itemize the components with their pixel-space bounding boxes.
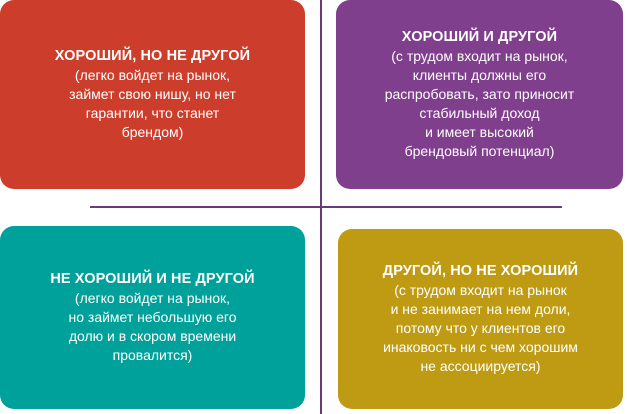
quadrant-body-line: брендом) — [69, 123, 236, 142]
quadrant-title-bottom-left: НЕ ХОРОШИЙ И НЕ ДРУГОЙ — [50, 270, 254, 289]
quadrant-body-bottom-right: (с трудом входит на рынок и не занимает … — [383, 281, 578, 376]
quadrant-body-line: займет свою нишу, но нет — [69, 85, 236, 104]
quadrant-body-line: не ассоциируется) — [383, 357, 578, 376]
quadrant-body-line: распробовать, зато приносит — [385, 85, 575, 104]
quadrant-matrix: ХОРОШИЙ, НО НЕ ДРУГОЙ (легко войдет на р… — [0, 0, 627, 414]
quadrant-body-line: но займет небольшую его — [69, 308, 237, 327]
quadrant-body-line: (с трудом входит на рынок, — [385, 47, 575, 66]
quadrant-body-line: и не занимает на нем доли, — [383, 300, 578, 319]
quadrant-body-line: (с трудом входит на рынок — [383, 281, 578, 300]
quadrant-body-line: клиенты должны его — [385, 66, 575, 85]
quadrant-title-bottom-right: ДРУГОЙ, НО НЕ ХОРОШИЙ — [383, 262, 578, 281]
quadrant-body-line: долю и в скором времени — [69, 327, 237, 346]
quadrant-card-top-left[interactable]: ХОРОШИЙ, НО НЕ ДРУГОЙ (легко войдет на р… — [0, 0, 305, 189]
horizontal-divider-line — [90, 206, 562, 208]
quadrant-card-bottom-left[interactable]: НЕ ХОРОШИЙ И НЕ ДРУГОЙ (легко войдет на … — [0, 226, 305, 409]
quadrant-card-bottom-right[interactable]: ДРУГОЙ, НО НЕ ХОРОШИЙ (с трудом входит н… — [338, 229, 623, 409]
quadrant-body-line: (легко войдет на рынок, — [69, 66, 236, 85]
quadrant-body-line: и имеет высокий — [385, 123, 575, 142]
quadrant-body-line: потому что у клиентов его — [383, 319, 578, 338]
quadrant-title-top-right: ХОРОШИЙ И ДРУГОЙ — [402, 28, 557, 47]
quadrant-card-top-right[interactable]: ХОРОШИЙ И ДРУГОЙ (с трудом входит на рын… — [336, 0, 623, 189]
quadrant-body-top-left: (легко войдет на рынок, займет свою нишу… — [69, 66, 236, 142]
quadrant-title-top-left: ХОРОШИЙ, НО НЕ ДРУГОЙ — [55, 47, 250, 66]
quadrant-body-bottom-left: (легко войдет на рынок, но займет неболь… — [69, 289, 237, 365]
quadrant-body-line: инаковость ни с чем хорошим — [383, 338, 578, 357]
quadrant-body-line: гарантии, что станет — [69, 104, 236, 123]
quadrant-body-line: провалится) — [69, 346, 237, 365]
quadrant-body-line: стабильный доход — [385, 104, 575, 123]
quadrant-body-line: брендовый потенциал) — [385, 142, 575, 161]
quadrant-body-line: (легко войдет на рынок, — [69, 289, 237, 308]
quadrant-body-top-right: (с трудом входит на рынок, клиенты должн… — [385, 47, 575, 161]
